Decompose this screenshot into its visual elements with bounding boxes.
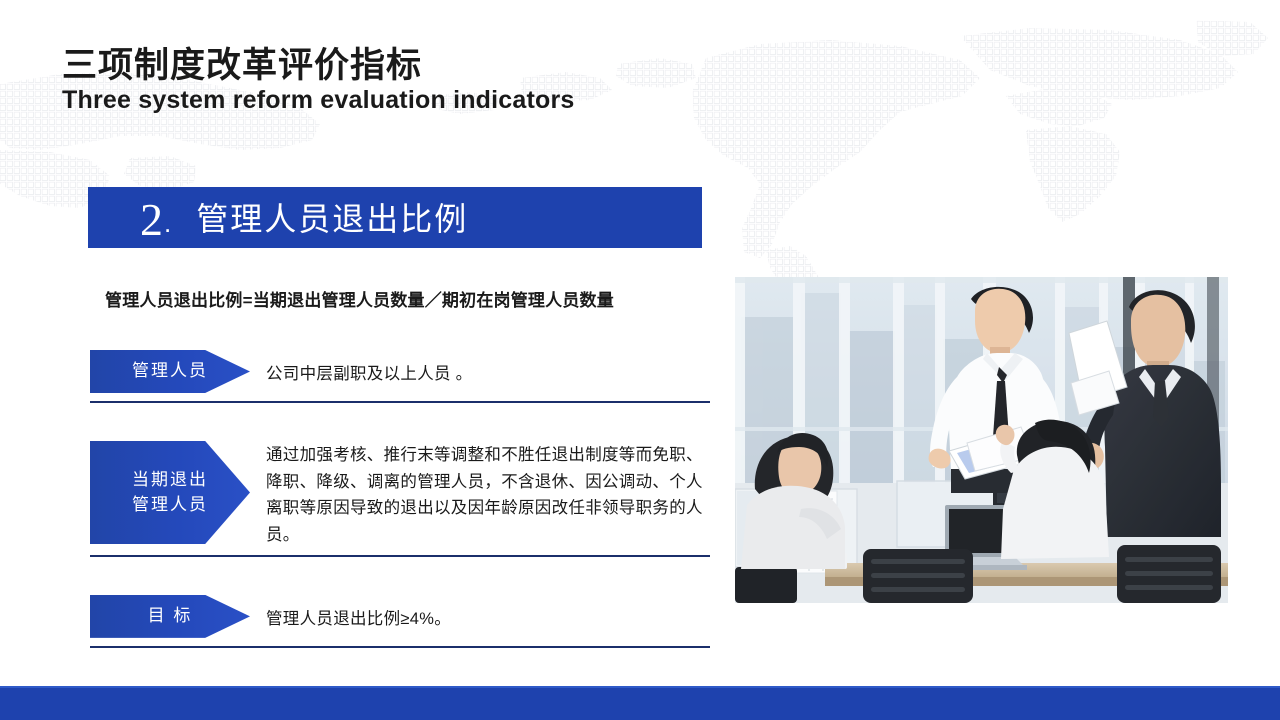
- definition-body: 通过加强考核、推行末等调整和不胜任退出制度等而免职、降职、降级、调离的管理人员，…: [250, 441, 710, 549]
- slide-canvas: 三项制度改革评价指标 Three system reform evaluatio…: [0, 0, 1280, 720]
- definition-tag-label: 管理人员: [132, 359, 208, 384]
- definition-body: 公司中层副职及以上人员 。: [250, 350, 710, 388]
- definition-row: 管理人员 公司中层副职及以上人员 。: [90, 350, 710, 393]
- definition-tag: 当期退出管理人员: [90, 441, 250, 544]
- definition-row: 目 标 管理人员退出比例≥4%。: [90, 595, 710, 638]
- definition-tag-wrapper: 管理人员: [90, 350, 250, 393]
- definition-tag-wrapper: 当期退出管理人员: [90, 441, 250, 544]
- definition-tag-wrapper: 目 标: [90, 595, 250, 638]
- page-title-cn: 三项制度改革评价指标: [62, 46, 862, 85]
- definition-tag-label: 目 标: [148, 604, 193, 629]
- bottom-bar: [0, 688, 1280, 720]
- section-number-value: 2: [140, 194, 163, 245]
- office-meeting-photo: [735, 277, 1228, 603]
- section-number-dot: .: [164, 208, 171, 238]
- definition-tag-label-multiline: 当期退出管理人员: [132, 468, 208, 517]
- definition-body: 管理人员退出比例≥4%。: [250, 595, 710, 633]
- definition-tag-line-2: 管理人员: [132, 495, 208, 514]
- world-map-background: [0, 0, 1280, 300]
- definition-list: 管理人员 公司中层副职及以上人员 。 当期退出管理人员 通过加强考核、推行末等调…: [90, 350, 710, 648]
- row-divider: [90, 646, 710, 648]
- row-gap: [90, 403, 710, 441]
- definition-tag-line-1: 当期退出: [132, 470, 208, 489]
- slide-header: 三项制度改革评价指标 Three system reform evaluatio…: [62, 46, 862, 115]
- section-title: 管理人员退出比例: [196, 203, 468, 235]
- row-gap: [90, 557, 710, 595]
- definition-row: 当期退出管理人员 通过加强考核、推行末等调整和不胜任退出制度等而免职、降职、降级…: [90, 441, 710, 549]
- page-title-en: Three system reform evaluation indicator…: [62, 86, 862, 115]
- definition-tag: 目 标: [90, 595, 250, 638]
- formula-text: 管理人员退出比例=当期退出管理人员数量／期初在岗管理人员数量: [105, 286, 614, 311]
- section-number: 2.: [140, 197, 170, 243]
- definition-tag: 管理人员: [90, 350, 250, 393]
- section-banner: 2. 管理人员退出比例: [88, 187, 702, 248]
